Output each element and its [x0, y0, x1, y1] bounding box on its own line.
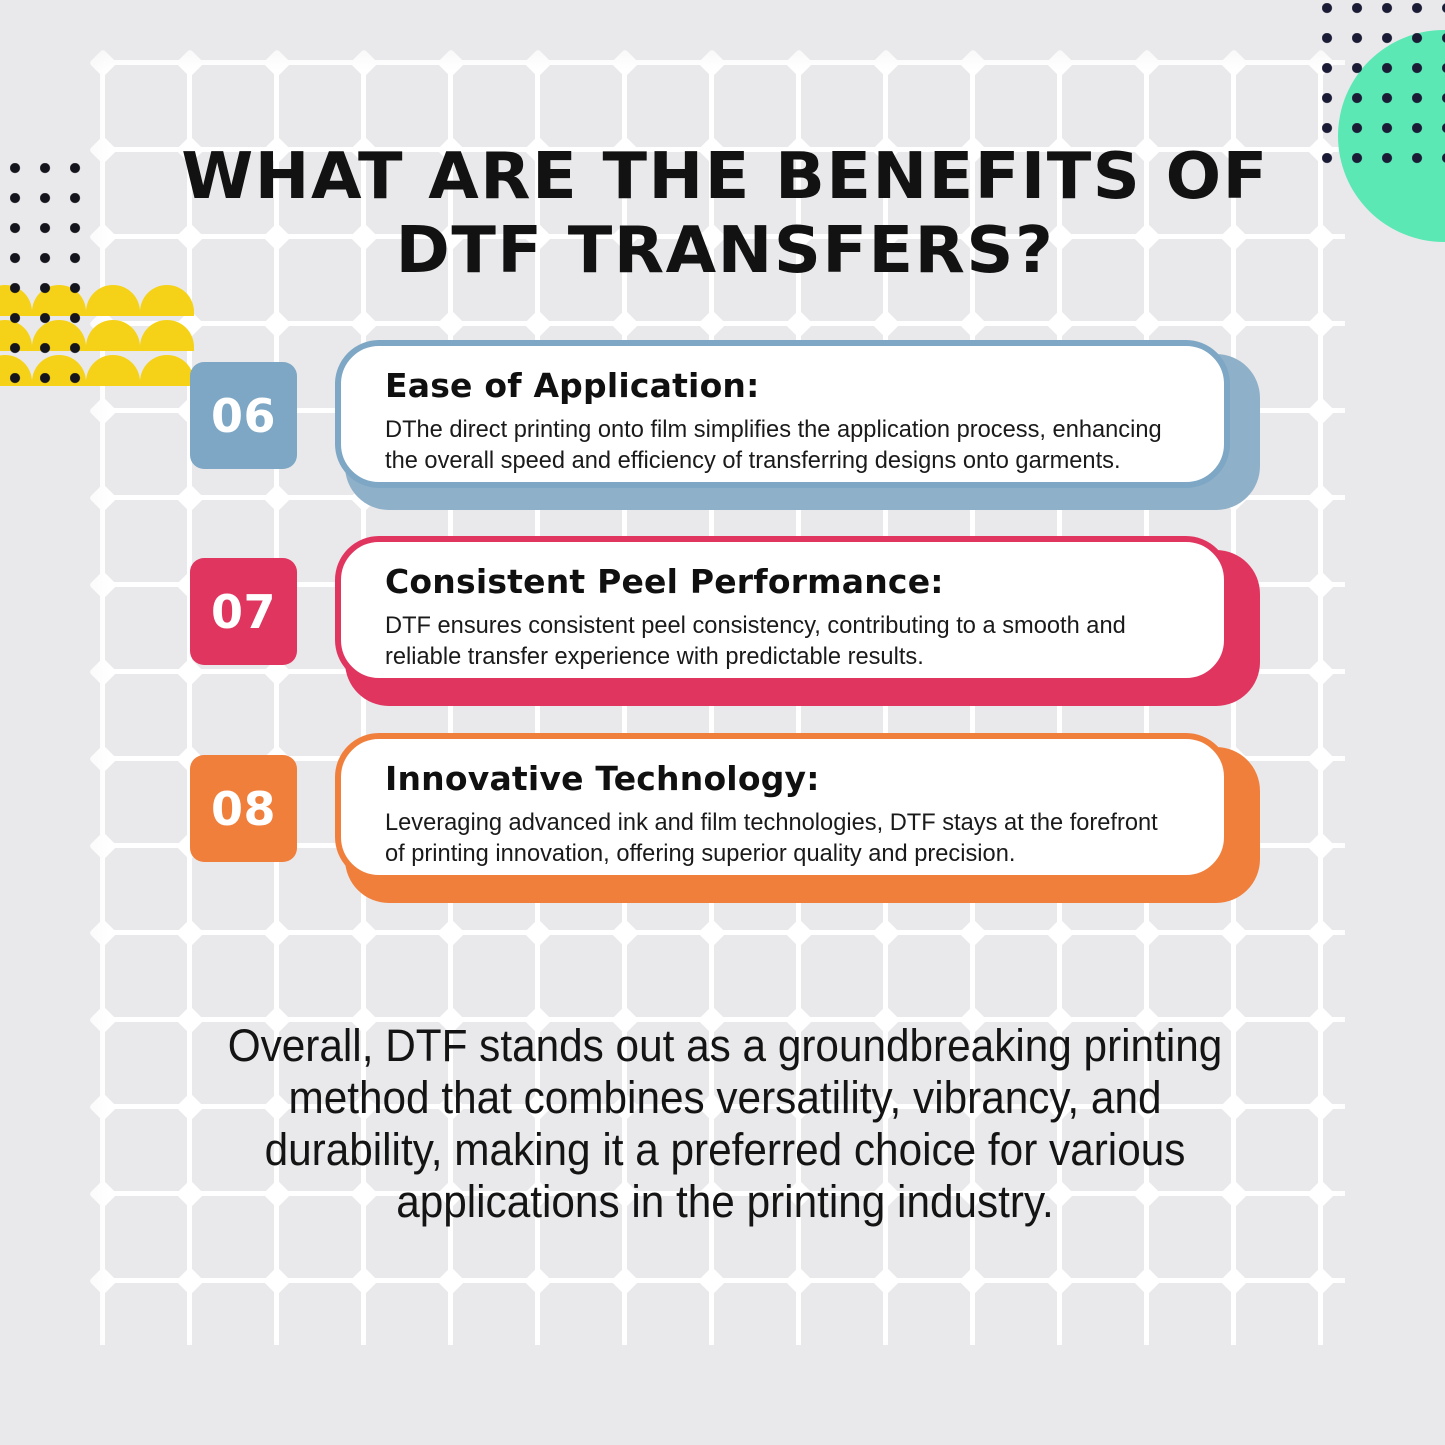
grid-node-diamond: [436, 48, 464, 76]
grid-node-diamond: [1219, 1266, 1247, 1294]
grid-node-diamond: [1219, 309, 1247, 337]
grid-node-diamond: [1306, 918, 1334, 946]
benefit-card-shell: Consistent Peel Performance:DTF ensures …: [335, 536, 1260, 706]
grid-node-diamond: [1306, 831, 1334, 859]
grid-node-diamond: [871, 48, 899, 76]
grid-node-diamond: [1132, 48, 1160, 76]
grid-node-diamond: [610, 918, 638, 946]
grid-node-diamond: [1132, 1266, 1160, 1294]
grid-node-diamond: [1306, 570, 1334, 598]
yellow-arc-icon: [86, 355, 140, 386]
grid-node-diamond: [871, 1266, 899, 1294]
grid-node-diamond: [88, 1266, 116, 1294]
grid-node-diamond: [697, 309, 725, 337]
grid-node-diamond: [349, 918, 377, 946]
grid-node-diamond: [349, 1266, 377, 1294]
infographic-canvas: WHAT ARE THE BENEFITS OF DTF TRANSFERS? …: [0, 0, 1445, 1445]
grid-node-diamond: [436, 918, 464, 946]
grid-node-diamond: [523, 918, 551, 946]
grid-node-diamond: [697, 1266, 725, 1294]
grid-node-diamond: [610, 309, 638, 337]
grid-node-diamond: [1306, 744, 1334, 772]
grid-node-diamond: [88, 657, 116, 685]
benefit-card-body: Leveraging advanced ink and film technol…: [385, 807, 1162, 869]
grid-node-diamond: [958, 1266, 986, 1294]
grid-node-diamond: [1306, 309, 1334, 337]
grid-node-diamond: [175, 1092, 203, 1120]
grid-node-diamond: [88, 483, 116, 511]
grid-node-diamond: [1045, 1266, 1073, 1294]
benefit-card-surface: Innovative Technology:Leveraging advance…: [335, 733, 1230, 881]
yellow-arc-icon: [86, 285, 140, 316]
benefit-number-badge: 06: [190, 362, 297, 469]
grid-node-diamond: [784, 48, 812, 76]
grid-node-diamond: [88, 570, 116, 598]
grid-node-diamond: [175, 1266, 203, 1294]
benefit-card-body: DTF ensures consistent peel consistency,…: [385, 610, 1162, 672]
grid-node-diamond: [262, 48, 290, 76]
grid-node-diamond: [88, 1092, 116, 1120]
grid-node-diamond: [1306, 657, 1334, 685]
grid-node-diamond: [523, 309, 551, 337]
grid-node-diamond: [697, 918, 725, 946]
grid-node-diamond: [349, 309, 377, 337]
yellow-arc-icon: [86, 320, 140, 351]
grid-node-diamond: [436, 1266, 464, 1294]
benefit-card-surface: Consistent Peel Performance:DTF ensures …: [335, 536, 1230, 684]
grid-node-diamond: [610, 48, 638, 76]
grid-node-diamond: [88, 1179, 116, 1207]
grid-node-diamond: [1219, 918, 1247, 946]
grid-node-diamond: [1306, 1179, 1334, 1207]
grid-node-diamond: [88, 918, 116, 946]
grid-node-diamond: [958, 309, 986, 337]
grid-node-diamond: [88, 222, 116, 250]
grid-node-diamond: [262, 918, 290, 946]
grid-node-diamond: [1045, 48, 1073, 76]
grid-node-diamond: [88, 396, 116, 424]
grid-node-diamond: [1132, 918, 1160, 946]
grid-node-diamond: [88, 744, 116, 772]
grid-node-diamond: [175, 918, 203, 946]
grid-node-diamond: [1219, 48, 1247, 76]
benefit-number-badge: 07: [190, 558, 297, 665]
grid-node-diamond: [1306, 1266, 1334, 1294]
grid-node-diamond: [784, 309, 812, 337]
grid-node-diamond: [523, 1266, 551, 1294]
grid-node-diamond: [871, 309, 899, 337]
grid-node-diamond: [871, 918, 899, 946]
grid-node-diamond: [523, 48, 551, 76]
grid-node-diamond: [88, 1005, 116, 1033]
grid-node-diamond: [88, 831, 116, 859]
benefit-number-badge: 08: [190, 755, 297, 862]
grid-node-diamond: [1045, 309, 1073, 337]
grid-node-diamond: [1306, 1005, 1334, 1033]
grid-node-diamond: [610, 1266, 638, 1294]
summary-paragraph: Overall, DTF stands out as a groundbreak…: [208, 1020, 1242, 1228]
grid-node-diamond: [1132, 309, 1160, 337]
benefit-card-title: Consistent Peel Performance:: [385, 562, 1190, 602]
benefit-card[interactable]: 06Ease of Application:DThe direct printi…: [190, 340, 1260, 510]
dot-grid-top-right-icon: [1322, 0, 1445, 170]
grid-node-diamond: [262, 309, 290, 337]
grid-node-diamond: [262, 1266, 290, 1294]
page-title: WHAT ARE THE BENEFITS OF DTF TRANSFERS?: [139, 140, 1312, 288]
grid-node-diamond: [1306, 483, 1334, 511]
grid-node-diamond: [958, 918, 986, 946]
grid-node-diamond: [958, 48, 986, 76]
benefit-card[interactable]: 08Innovative Technology:Leveraging advan…: [190, 733, 1260, 903]
dot-grid-left-icon: [10, 163, 90, 393]
benefit-card-shell: Ease of Application:DThe direct printing…: [335, 340, 1260, 510]
grid-node-diamond: [784, 1266, 812, 1294]
grid-node-diamond: [784, 918, 812, 946]
benefit-card-title: Ease of Application:: [385, 366, 1190, 406]
benefit-card-body: DThe direct printing onto film simplifie…: [385, 414, 1162, 476]
grid-node-diamond: [1306, 396, 1334, 424]
grid-node-diamond: [1306, 1092, 1334, 1120]
grid-node-diamond: [1045, 918, 1073, 946]
grid-node-diamond: [175, 1179, 203, 1207]
benefit-card[interactable]: 07Consistent Peel Performance:DTF ensure…: [190, 536, 1260, 706]
benefit-card-surface: Ease of Application:DThe direct printing…: [335, 340, 1230, 488]
grid-node-diamond: [349, 48, 377, 76]
benefit-card-title: Innovative Technology:: [385, 759, 1190, 799]
grid-node-diamond: [88, 135, 116, 163]
grid-node-diamond: [175, 1005, 203, 1033]
grid-node-diamond: [436, 309, 464, 337]
grid-node-diamond: [175, 48, 203, 76]
grid-node-diamond: [697, 48, 725, 76]
benefit-card-shell: Innovative Technology:Leveraging advance…: [335, 733, 1260, 903]
grid-node-diamond: [88, 48, 116, 76]
